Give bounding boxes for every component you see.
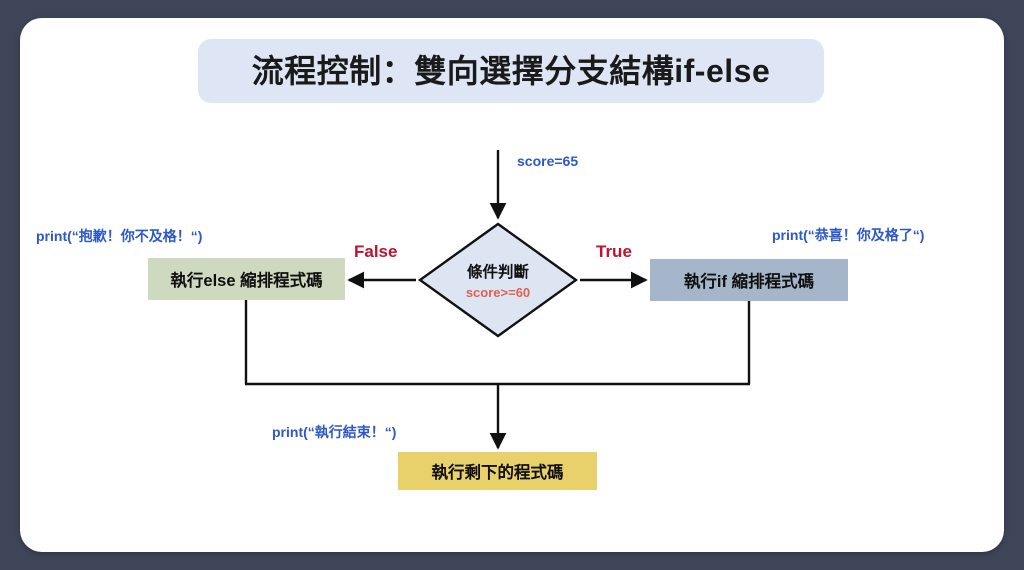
slide-card: 流程控制：雙向選擇分支結構if-else xyxy=(20,18,1004,552)
branch-label-true: True xyxy=(596,242,632,262)
decision-condition: score>=60 xyxy=(466,285,530,300)
else-print-annotation: print(“抱歉！你不及格！“) xyxy=(36,226,202,246)
title-banner: 流程控制：雙向選擇分支結構if-else xyxy=(198,39,824,103)
decision-text-group: 條件判斷 score>=60 xyxy=(418,222,578,338)
entry-annotation: score=65 xyxy=(517,153,578,169)
if-block-node[interactable]: 執行if 縮排程式碼 xyxy=(650,259,848,301)
end-print-annotation: print(“執行結束！“) xyxy=(272,422,396,442)
if-block-label: 執行if 縮排程式碼 xyxy=(684,268,814,292)
slide-frame: 流程控制：雙向選擇分支結構if-else xyxy=(0,0,1024,570)
rest-block-node[interactable]: 執行剩下的程式碼 xyxy=(398,452,597,490)
page-title: 流程控制：雙向選擇分支結構if-else xyxy=(198,39,824,103)
else-block-node[interactable]: 執行else 縮排程式碼 xyxy=(148,258,345,300)
branch-label-false: False xyxy=(354,242,397,262)
decision-node[interactable]: 條件判斷 score>=60 xyxy=(418,222,578,338)
if-print-annotation: print(“恭喜！你及格了“) xyxy=(772,225,924,245)
decision-title: 條件判斷 xyxy=(467,260,529,282)
rest-block-label: 執行剩下的程式碼 xyxy=(432,459,564,483)
else-block-label: 執行else 縮排程式碼 xyxy=(170,267,322,291)
